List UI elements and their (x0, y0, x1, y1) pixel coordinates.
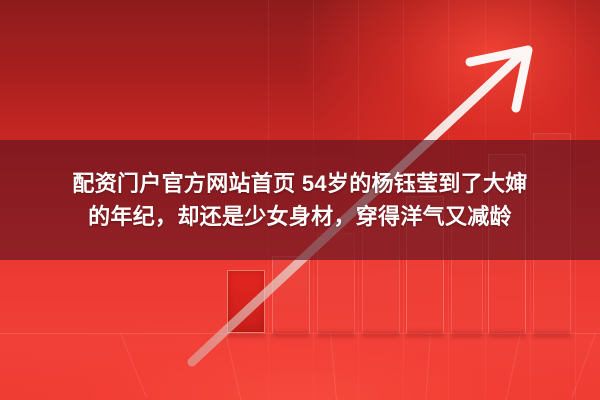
caption-line-1: 配资门户官方网站首页 54岁的杨钰莹到了大婶 (72, 170, 527, 198)
bar (272, 256, 310, 333)
caption-block: 配资门户官方网站首页 54岁的杨钰莹到了大婶 的年纪，却还是少女身材，穿得洋气又… (0, 140, 600, 260)
caption-line-2: 的年纪，却还是少女身材，穿得洋气又减龄 (88, 203, 512, 231)
banner-image: 配资门户官方网站首页 54岁的杨钰莹到了大婶 的年纪，却还是少女身材，穿得洋气又… (0, 0, 600, 400)
bar (227, 270, 265, 333)
